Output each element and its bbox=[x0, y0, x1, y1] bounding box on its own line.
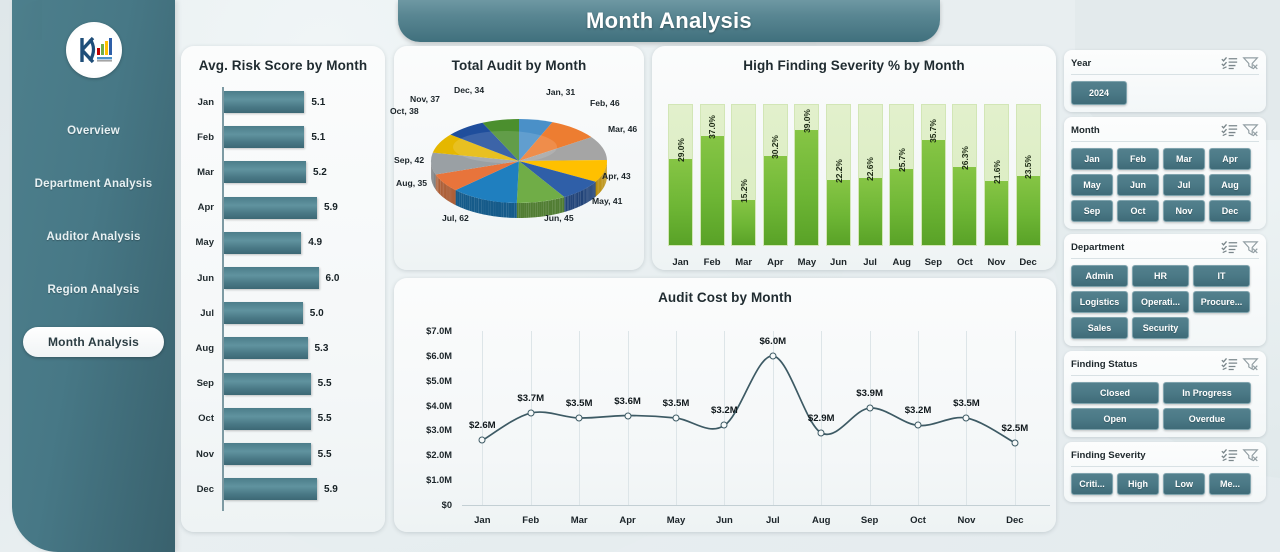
risk-bar-value: 5.9 bbox=[324, 484, 338, 495]
risk-bar-category: Aug bbox=[181, 343, 219, 354]
filter-chip[interactable]: Sep bbox=[1071, 200, 1113, 222]
sidebar: OverviewDepartment AnalysisAuditor Analy… bbox=[12, 0, 175, 552]
filter-group-title: Month bbox=[1071, 125, 1217, 136]
risk-bar-row: Sep5.5 bbox=[181, 371, 385, 397]
filter-chip[interactable]: HR bbox=[1132, 265, 1189, 287]
risk-bar-category: Feb bbox=[181, 132, 219, 143]
severity-bar-column: 23.5%Dec bbox=[1016, 104, 1041, 246]
risk-bar[interactable] bbox=[224, 408, 311, 430]
severity-bar-fill bbox=[701, 136, 724, 245]
filter-group-header: Department bbox=[1071, 240, 1259, 259]
filter-chip[interactable]: Open bbox=[1071, 408, 1159, 430]
cost-data-point[interactable] bbox=[769, 352, 776, 359]
severity-bar-fill bbox=[985, 181, 1008, 245]
severity-bar-column: 35.7%Sep bbox=[921, 104, 946, 246]
severity-bar-track[interactable]: 15.2% bbox=[731, 104, 756, 246]
cost-x-tick-label: Nov bbox=[957, 515, 975, 526]
cost-x-tick-label: May bbox=[667, 515, 685, 526]
multi-select-icon[interactable] bbox=[1221, 123, 1238, 137]
sidebar-item-label: Region Analysis bbox=[47, 284, 139, 296]
severity-bar-value: 35.7% bbox=[928, 119, 938, 143]
multi-select-icon[interactable] bbox=[1221, 357, 1238, 371]
risk-bar-value: 5.1 bbox=[311, 97, 325, 108]
risk-bar-value: 5.5 bbox=[318, 449, 332, 460]
filter-chip[interactable]: Mar bbox=[1163, 148, 1205, 170]
filter-chip[interactable]: Procure... bbox=[1193, 291, 1250, 313]
sidebar-item-label: Auditor Analysis bbox=[46, 231, 140, 243]
severity-bar-value: 25.7% bbox=[897, 148, 907, 172]
severity-axis-label: Apr bbox=[763, 257, 788, 268]
severity-bar-value: 39.0% bbox=[802, 109, 812, 133]
filter-chip[interactable]: Operati... bbox=[1132, 291, 1189, 313]
severity-bar-value: 21.6% bbox=[992, 160, 1002, 184]
pie-data-label: Dec, 34 bbox=[454, 85, 484, 95]
filter-group-header: Finding Status bbox=[1071, 357, 1259, 376]
cost-x-tick-label: Feb bbox=[522, 515, 539, 526]
cost-data-label: $3.2M bbox=[905, 405, 932, 416]
cost-data-label: $6.0M bbox=[759, 336, 786, 347]
risk-bar-row: Feb5.1 bbox=[181, 124, 385, 150]
cost-data-label: $2.9M bbox=[808, 413, 835, 424]
severity-axis-label: Jan bbox=[668, 257, 693, 268]
filter-chip-list: 2024 bbox=[1071, 81, 1259, 105]
risk-bar[interactable] bbox=[224, 126, 304, 148]
filter-chip[interactable]: Admin bbox=[1071, 265, 1128, 287]
total-audit-card: Total Audit by Month Jan, 31Feb, 46Mar, … bbox=[394, 46, 644, 270]
risk-bar-value: 5.0 bbox=[310, 308, 324, 319]
severity-axis-label: Dec bbox=[1016, 257, 1041, 268]
clear-filter-icon[interactable] bbox=[1242, 357, 1259, 371]
cost-data-point[interactable] bbox=[576, 415, 583, 422]
severity-axis-label: Aug bbox=[889, 257, 914, 268]
severity-bar-value: 22.2% bbox=[834, 159, 844, 183]
filter-chip[interactable]: Dec bbox=[1209, 200, 1251, 222]
risk-score-chart: Jan5.1Feb5.1Mar5.2Apr5.9May4.9Jun6.0Jul5… bbox=[181, 79, 385, 519]
filter-group-header: Month bbox=[1071, 123, 1259, 142]
cost-data-point[interactable] bbox=[479, 437, 486, 444]
total-audit-title: Total Audit by Month bbox=[394, 46, 644, 73]
risk-bar-row: Aug5.3 bbox=[181, 335, 385, 361]
risk-bar-row: Dec5.9 bbox=[181, 476, 385, 502]
severity-bar-fill bbox=[732, 200, 755, 245]
severity-axis-label: Nov bbox=[984, 257, 1009, 268]
filter-chip[interactable]: Oct bbox=[1117, 200, 1159, 222]
pie-data-label: Jun, 45 bbox=[544, 213, 574, 223]
severity-bar-track[interactable]: 25.7% bbox=[889, 104, 914, 246]
risk-bar-category: Jan bbox=[181, 97, 219, 108]
cost-data-point[interactable] bbox=[527, 410, 534, 417]
filter-group-header: Year bbox=[1071, 56, 1259, 75]
filter-chip[interactable]: Security bbox=[1132, 317, 1189, 339]
severity-bar-track[interactable]: 35.7% bbox=[921, 104, 946, 246]
cost-x-tick-label: Sep bbox=[861, 515, 878, 526]
filter-group-title: Year bbox=[1071, 58, 1217, 69]
severity-bar-track[interactable]: 39.0% bbox=[794, 104, 819, 246]
severity-bar-value: 30.2% bbox=[770, 135, 780, 159]
risk-bar[interactable] bbox=[224, 161, 306, 183]
risk-bar-value: 6.0 bbox=[326, 273, 340, 284]
risk-bar-value: 5.3 bbox=[315, 343, 329, 354]
severity-axis-label: Feb bbox=[700, 257, 725, 268]
filter-group-finding-severity: Finding SeverityCriti...HighLowMe... bbox=[1064, 442, 1266, 502]
risk-bar-row: Jan5.1 bbox=[181, 89, 385, 115]
page-header: Month Analysis bbox=[398, 0, 940, 42]
risk-bar-category: Apr bbox=[181, 202, 219, 213]
filter-chip[interactable]: Jun bbox=[1117, 174, 1159, 196]
pie-data-label: Jan, 31 bbox=[546, 87, 575, 97]
cost-data-point[interactable] bbox=[1011, 439, 1018, 446]
filter-chip-list: Criti...HighLowMe... bbox=[1071, 473, 1259, 495]
severity-bar-track[interactable]: 22.6% bbox=[858, 104, 883, 246]
risk-bar-row: Mar5.2 bbox=[181, 159, 385, 185]
severity-bar-column: 29.0%Jan bbox=[668, 104, 693, 246]
risk-bar-row: Jun6.0 bbox=[181, 265, 385, 291]
filter-chip[interactable]: In Progress bbox=[1163, 382, 1251, 404]
filter-chip[interactable]: Aug bbox=[1209, 174, 1251, 196]
filter-chip[interactable]: Feb bbox=[1117, 148, 1159, 170]
severity-bar-value: 37.0% bbox=[707, 115, 717, 139]
risk-bar-row: Apr5.9 bbox=[181, 195, 385, 221]
cost-x-tick-label: Mar bbox=[571, 515, 588, 526]
risk-bar-category: Jul bbox=[181, 308, 219, 319]
filter-chip-list: JanFebMarAprMayJunJulAugSepOctNovDec bbox=[1071, 148, 1259, 222]
severity-bar-column: 39.0%May bbox=[794, 104, 819, 246]
filter-chip[interactable]: Low bbox=[1163, 473, 1205, 495]
cost-data-label: $3.7M bbox=[517, 393, 544, 404]
severity-axis-label: Mar bbox=[731, 257, 756, 268]
severity-title: High Finding Severity % by Month bbox=[652, 46, 1056, 73]
cost-data-label: $2.5M bbox=[1002, 423, 1029, 434]
risk-bar-category: Nov bbox=[181, 449, 219, 460]
pie-data-label: Apr, 43 bbox=[602, 171, 631, 181]
cost-data-label: $2.6M bbox=[469, 420, 496, 431]
pie-data-label: May, 41 bbox=[592, 196, 622, 206]
severity-axis-label: Jun bbox=[826, 257, 851, 268]
risk-bar-category: Dec bbox=[181, 484, 219, 495]
risk-bar-value: 5.1 bbox=[311, 132, 325, 143]
risk-bar[interactable] bbox=[224, 373, 311, 395]
filter-chip[interactable]: Jan bbox=[1071, 148, 1113, 170]
company-logo bbox=[66, 22, 122, 78]
severity-bar-column: 26.3%Oct bbox=[952, 104, 977, 246]
severity-bar-column: 30.2%Apr bbox=[763, 104, 788, 246]
pie-data-label: Jul, 62 bbox=[442, 213, 469, 223]
severity-chart: 29.0%Jan37.0%Feb15.2%Mar30.2%Apr39.0%May… bbox=[664, 87, 1046, 272]
pie-data-label: Sep, 42 bbox=[394, 155, 424, 165]
filter-chip-list: AdminHRITLogisticsOperati...Procure...Sa… bbox=[1071, 265, 1259, 339]
severity-bar-column: 22.2%Jun bbox=[826, 104, 851, 246]
severity-bar-track[interactable]: 26.3% bbox=[952, 104, 977, 246]
risk-score-card: Avg. Risk Score by Month Jan5.1Feb5.1Mar… bbox=[181, 46, 385, 532]
cost-data-label: $3.5M bbox=[663, 398, 690, 409]
risk-bar-value: 5.9 bbox=[324, 202, 338, 213]
risk-bar[interactable] bbox=[224, 478, 317, 500]
cost-data-label: $3.6M bbox=[614, 396, 641, 407]
filter-chip-list: ClosedIn ProgressOpenOverdue bbox=[1071, 382, 1259, 430]
filter-chip[interactable]: 2024 bbox=[1071, 81, 1127, 105]
risk-bar[interactable] bbox=[224, 443, 311, 465]
clear-filter-icon[interactable] bbox=[1242, 123, 1259, 137]
multi-select-icon[interactable] bbox=[1221, 56, 1238, 70]
total-audit-pie-chart: Jan, 31Feb, 46Mar, 46Apr, 43May, 41Jun, … bbox=[394, 73, 644, 263]
risk-bar-row: Jul5.0 bbox=[181, 300, 385, 326]
pie-data-label: Aug, 35 bbox=[396, 178, 427, 188]
clear-filter-icon[interactable] bbox=[1242, 56, 1259, 70]
risk-bar-row: Oct5.5 bbox=[181, 406, 385, 432]
cost-data-point[interactable] bbox=[866, 405, 873, 412]
sidebar-item-month-analysis[interactable]: Month Analysis bbox=[23, 327, 164, 357]
severity-bar-fill bbox=[859, 178, 882, 245]
severity-axis-label: Sep bbox=[921, 257, 946, 268]
pie-data-label: Feb, 46 bbox=[590, 98, 620, 108]
clear-filter-icon[interactable] bbox=[1242, 240, 1259, 254]
severity-bar-track[interactable]: 21.6% bbox=[984, 104, 1009, 246]
severity-bar-fill bbox=[922, 140, 945, 245]
cost-data-label: $3.5M bbox=[953, 398, 980, 409]
severity-bar-value: 23.5% bbox=[1023, 155, 1033, 179]
filter-group-finding-status: Finding StatusClosedIn ProgressOpenOverd… bbox=[1064, 351, 1266, 437]
severity-bar-track[interactable]: 22.2% bbox=[826, 104, 851, 246]
filter-chip[interactable]: Logistics bbox=[1071, 291, 1128, 313]
page-title: Month Analysis bbox=[586, 8, 752, 34]
risk-bar-row: Nov5.5 bbox=[181, 441, 385, 467]
severity-bar-column: 22.6%Jul bbox=[858, 104, 883, 246]
filter-group-month: MonthJanFebMarAprMayJunJulAugSepOctNovDe… bbox=[1064, 117, 1266, 229]
filter-chip[interactable]: IT bbox=[1193, 265, 1250, 287]
filter-chip[interactable]: Apr bbox=[1209, 148, 1251, 170]
filter-chip[interactable]: Criti... bbox=[1071, 473, 1113, 495]
risk-bar-value: 5.5 bbox=[318, 413, 332, 424]
severity-bar-track[interactable]: 23.5% bbox=[1016, 104, 1041, 246]
cost-x-tick-label: Jun bbox=[716, 515, 733, 526]
severity-bar-column: 25.7%Aug bbox=[889, 104, 914, 246]
filter-group-title: Department bbox=[1071, 242, 1217, 253]
sidebar-item-region-analysis[interactable]: Region Analysis bbox=[12, 263, 175, 316]
cost-data-label: $3.2M bbox=[711, 405, 738, 416]
filter-group-department: DepartmentAdminHRITLogisticsOperati...Pr… bbox=[1064, 234, 1266, 346]
severity-bar-value: 26.3% bbox=[960, 147, 970, 171]
severity-bar-fill bbox=[795, 130, 818, 245]
risk-bar-value: 5.2 bbox=[313, 167, 327, 178]
risk-bar[interactable] bbox=[224, 91, 304, 113]
high-finding-severity-card: High Finding Severity % by Month 29.0%Ja… bbox=[652, 46, 1056, 270]
severity-axis-label: Oct bbox=[952, 257, 977, 268]
severity-axis-label: May bbox=[794, 257, 819, 268]
cost-data-label: $3.9M bbox=[856, 388, 883, 399]
severity-bar-column: 15.2%Mar bbox=[731, 104, 756, 246]
risk-bar-category: Jun bbox=[181, 273, 219, 284]
filter-chip[interactable]: Overdue bbox=[1163, 408, 1251, 430]
cost-data-point[interactable] bbox=[915, 422, 922, 429]
severity-bar-fill bbox=[890, 169, 913, 245]
pie-data-label: Oct, 38 bbox=[390, 106, 419, 116]
filter-group-header: Finding Severity bbox=[1071, 448, 1259, 467]
severity-bar-fill bbox=[764, 156, 787, 245]
severity-bar-value: 15.2% bbox=[739, 179, 749, 203]
risk-bar-row: May4.9 bbox=[181, 230, 385, 256]
severity-bar-column: 21.6%Nov bbox=[984, 104, 1009, 246]
cost-data-point[interactable] bbox=[672, 415, 679, 422]
cost-data-point[interactable] bbox=[963, 415, 970, 422]
risk-bar-value: 4.9 bbox=[308, 237, 322, 248]
multi-select-icon[interactable] bbox=[1221, 240, 1238, 254]
filter-group-year: Year2024 bbox=[1064, 50, 1266, 112]
sidebar-item-department-analysis[interactable]: Department Analysis bbox=[12, 157, 175, 210]
clear-filter-icon[interactable] bbox=[1242, 448, 1259, 462]
cost-data-point[interactable] bbox=[818, 429, 825, 436]
sidebar-nav: OverviewDepartment AnalysisAuditor Analy… bbox=[12, 104, 175, 368]
severity-bar-column: 37.0%Feb bbox=[700, 104, 725, 246]
filter-group-title: Finding Status bbox=[1071, 359, 1217, 370]
filter-group-title: Finding Severity bbox=[1071, 450, 1217, 461]
severity-bar-track[interactable]: 30.2% bbox=[763, 104, 788, 246]
sidebar-item-overview[interactable]: Overview bbox=[12, 104, 175, 157]
severity-bar-track[interactable]: 29.0% bbox=[668, 104, 693, 246]
filter-chip[interactable]: Jul bbox=[1163, 174, 1205, 196]
severity-bar-fill bbox=[669, 159, 692, 245]
filter-chip[interactable]: Sales bbox=[1071, 317, 1128, 339]
risk-bar[interactable] bbox=[224, 337, 308, 359]
risk-bar-category: Sep bbox=[181, 378, 219, 389]
risk-bar[interactable] bbox=[224, 197, 317, 219]
risk-bar-category: May bbox=[181, 237, 219, 248]
severity-bar-fill bbox=[827, 180, 850, 245]
severity-axis-label: Jul bbox=[858, 257, 883, 268]
pie-data-label: Nov, 37 bbox=[410, 94, 440, 104]
sidebar-item-label: Month Analysis bbox=[48, 335, 139, 349]
filter-chip[interactable]: Nov bbox=[1163, 200, 1205, 222]
audit-cost-card: Audit Cost by Month $7.0M$6.0M$5.0M$4.0M… bbox=[394, 278, 1056, 532]
cost-x-tick-label: Aug bbox=[812, 515, 830, 526]
pie-data-label: Mar, 46 bbox=[608, 124, 637, 134]
risk-bar[interactable] bbox=[224, 302, 303, 324]
cost-x-tick-label: Dec bbox=[1006, 515, 1023, 526]
sidebar-item-label: Department Analysis bbox=[35, 178, 153, 190]
severity-bar-fill bbox=[953, 167, 976, 245]
cost-data-point[interactable] bbox=[721, 422, 728, 429]
filter-chip[interactable]: Me... bbox=[1209, 473, 1251, 495]
risk-bar-category: Oct bbox=[181, 413, 219, 424]
filter-chip[interactable]: May bbox=[1071, 174, 1113, 196]
cost-x-tick-label: Jan bbox=[474, 515, 490, 526]
multi-select-icon[interactable] bbox=[1221, 448, 1238, 462]
risk-bar-category: Mar bbox=[181, 167, 219, 178]
severity-bar-value: 29.0% bbox=[676, 139, 686, 163]
audit-cost-chart: $7.0M$6.0M$5.0M$4.0M$3.0M$2.0M$1.0M$0$2.… bbox=[394, 309, 1056, 537]
sidebar-item-auditor-analysis[interactable]: Auditor Analysis bbox=[12, 210, 175, 263]
cost-x-tick-label: Jul bbox=[766, 515, 780, 526]
audit-cost-title: Audit Cost by Month bbox=[394, 278, 1056, 305]
filter-panel: Year2024MonthJanFebMarAprMayJunJulAugSep… bbox=[1064, 50, 1266, 507]
cost-data-label: $3.5M bbox=[566, 398, 593, 409]
severity-bar-value: 22.6% bbox=[865, 157, 875, 181]
cost-x-tick-label: Apr bbox=[619, 515, 635, 526]
severity-bar-track[interactable]: 37.0% bbox=[700, 104, 725, 246]
risk-bar[interactable] bbox=[224, 267, 319, 289]
risk-bar[interactable] bbox=[224, 232, 301, 254]
severity-bar-fill bbox=[1017, 176, 1040, 245]
risk-bar-value: 5.5 bbox=[318, 378, 332, 389]
cost-data-point[interactable] bbox=[624, 412, 631, 419]
filter-chip[interactable]: Closed bbox=[1071, 382, 1159, 404]
filter-chip[interactable]: High bbox=[1117, 473, 1159, 495]
sidebar-item-label: Overview bbox=[67, 125, 120, 137]
cost-x-tick-label: Oct bbox=[910, 515, 926, 526]
risk-score-title: Avg. Risk Score by Month bbox=[181, 46, 385, 73]
